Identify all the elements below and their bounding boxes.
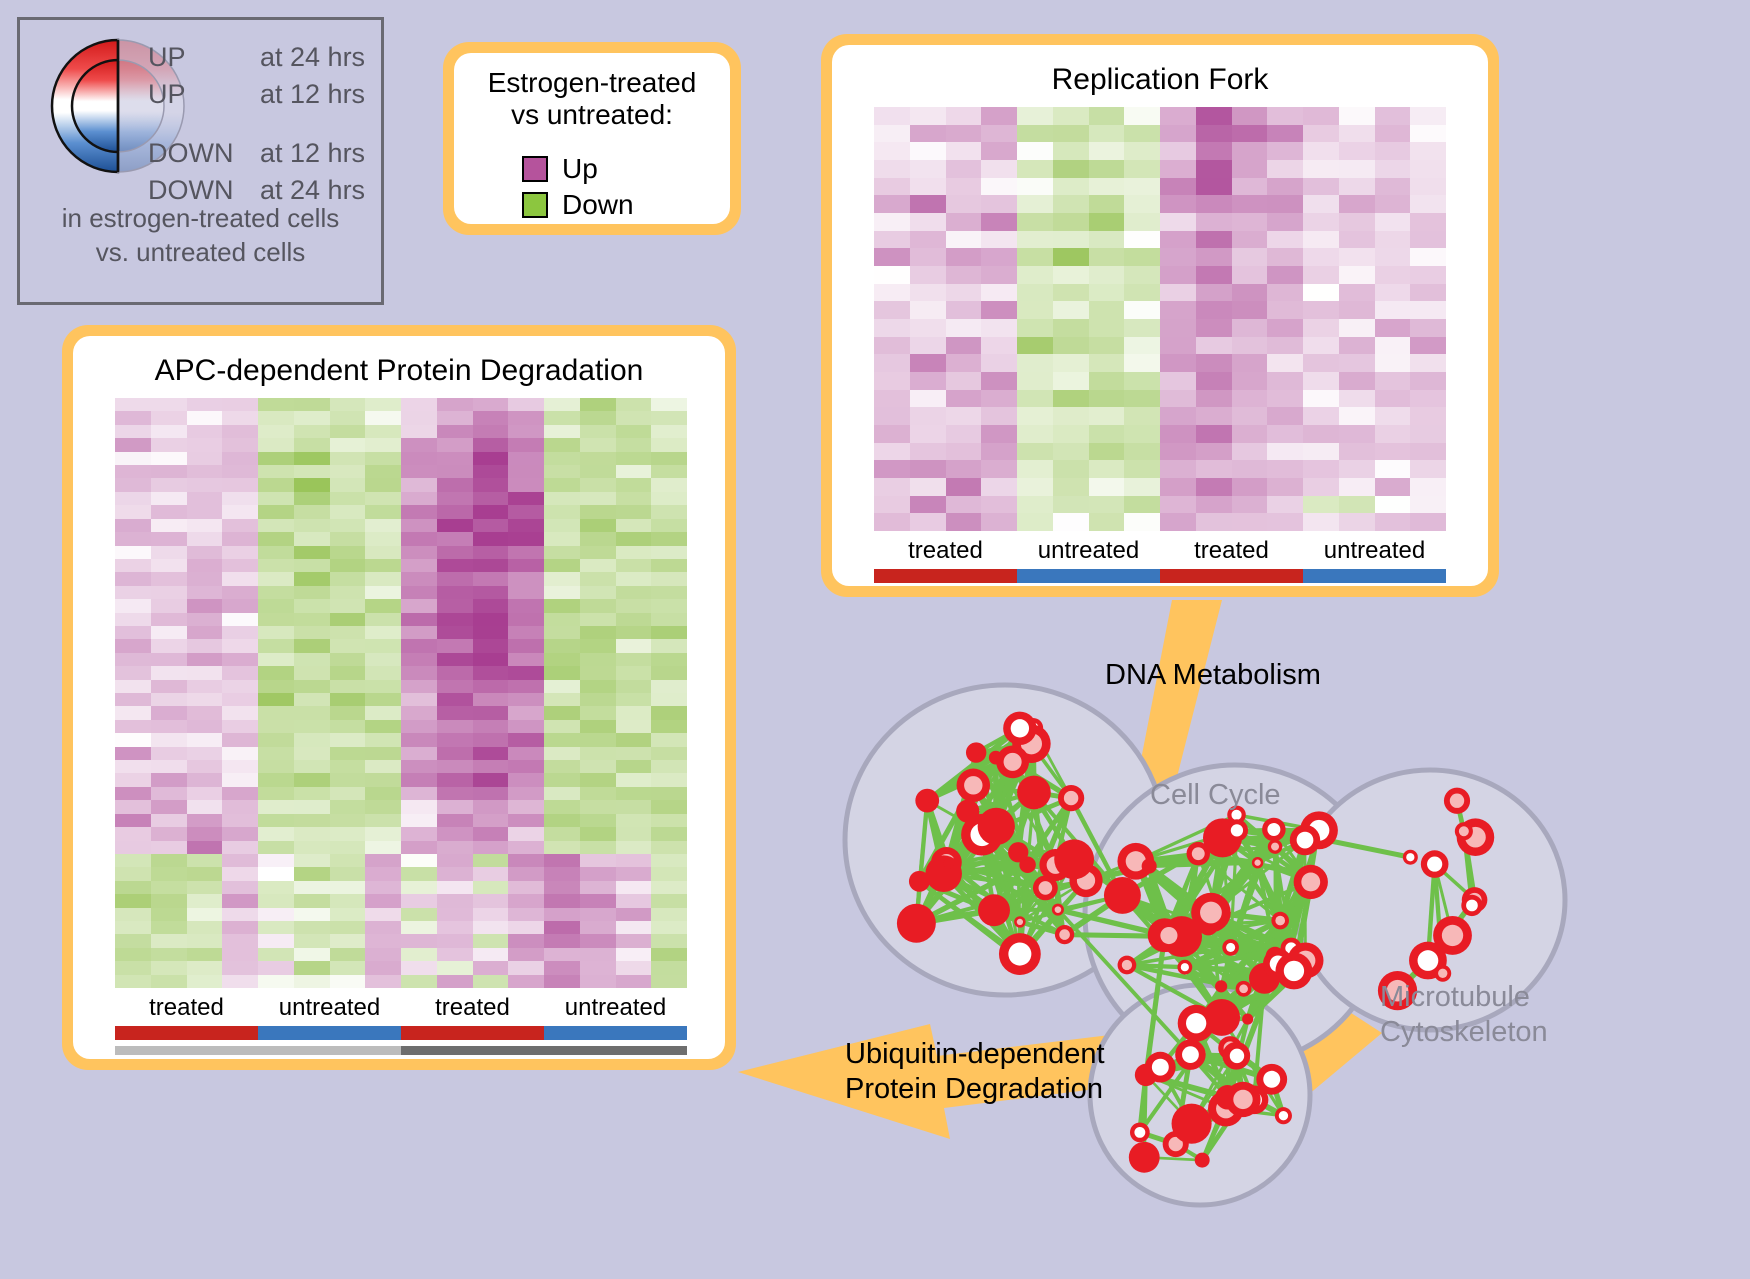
- heatmap-cell: [330, 613, 366, 626]
- network-node[interactable]: [1271, 912, 1289, 930]
- heatmap-cell: [544, 921, 580, 934]
- network-node[interactable]: [956, 800, 979, 823]
- legend-label-down: Down: [562, 189, 634, 221]
- heatmap-cell: [187, 787, 223, 800]
- network-node[interactable]: [1172, 1104, 1212, 1144]
- heatmap-cell: [544, 961, 580, 974]
- heatmap-cell: [1232, 284, 1268, 302]
- heatmap-cell: [115, 653, 151, 666]
- node-inner: [1239, 984, 1248, 993]
- network-node[interactable]: [1268, 839, 1282, 853]
- network-node[interactable]: [1014, 916, 1025, 927]
- node-inner: [1039, 881, 1053, 895]
- heatmap-cell: [294, 894, 330, 907]
- network-node[interactable]: [1215, 980, 1227, 992]
- heatmap-cell: [294, 921, 330, 934]
- heatmap-cell: [874, 266, 910, 284]
- network-node[interactable]: [996, 745, 1029, 778]
- heatmap-cell: [616, 733, 652, 746]
- network-node[interactable]: [1118, 956, 1137, 975]
- network-node[interactable]: [1195, 1153, 1210, 1168]
- network-node[interactable]: [1236, 981, 1252, 997]
- node-outer: [1008, 842, 1028, 862]
- heatmap-cell: [330, 492, 366, 505]
- heatmap-cell: [187, 854, 223, 867]
- heatmap-cell: [946, 266, 982, 284]
- heatmap-cell: [365, 519, 401, 532]
- heatmap-cell: [1375, 425, 1411, 443]
- network-node[interactable]: [1129, 1142, 1160, 1173]
- heatmap-cell: [651, 760, 687, 773]
- heatmap-cell: [910, 284, 946, 302]
- heatmap-cell: [437, 398, 473, 411]
- network-node[interactable]: [1187, 842, 1210, 865]
- heatmap-cell: [1232, 142, 1268, 160]
- network-node[interactable]: [999, 933, 1041, 975]
- heatmap-cell: [473, 653, 509, 666]
- heatmap-cell: [544, 492, 580, 505]
- heatmap-cell: [437, 425, 473, 438]
- heatmap-cell: [437, 934, 473, 947]
- replication-fork-title: Replication Fork: [832, 63, 1488, 97]
- heatmap-cell: [473, 773, 509, 786]
- node-inner: [1254, 860, 1260, 866]
- heatmap-cell: [1303, 390, 1339, 408]
- heatmap-cell: [1124, 478, 1160, 496]
- heatmap-cell: [258, 438, 294, 451]
- heatmap-cell: [330, 680, 366, 693]
- heatmap-cell: [437, 733, 473, 746]
- replication-fork-panel: Replication Fork treateduntreatedtreated…: [821, 34, 1499, 597]
- heatmap-cell: [874, 513, 910, 531]
- network-node[interactable]: [1461, 895, 1482, 916]
- heatmap-cell: [294, 747, 330, 760]
- heatmap-cell: [544, 438, 580, 451]
- heatmap-cell: [437, 921, 473, 934]
- network-node[interactable]: [1226, 819, 1248, 841]
- heatmap-cell: [1053, 231, 1089, 249]
- heatmap-cell: [401, 492, 437, 505]
- heatmap-cell: [401, 425, 437, 438]
- network-node[interactable]: [1294, 865, 1328, 899]
- heatmap-cell: [401, 586, 437, 599]
- heatmap-cell: [330, 505, 366, 518]
- heatmap-cell: [544, 894, 580, 907]
- network-node[interactable]: [1130, 1122, 1150, 1142]
- heatmap-cell: [187, 599, 223, 612]
- heatmap-cell: [1303, 195, 1339, 213]
- heatmap-cell: [580, 666, 616, 679]
- heatmap-cell: [115, 908, 151, 921]
- heatmap-cell: [1089, 195, 1125, 213]
- heatmap-cell: [330, 827, 366, 840]
- heatmap-cell: [544, 800, 580, 813]
- network-node[interactable]: [1054, 839, 1094, 879]
- node-inner: [1134, 1127, 1145, 1138]
- heatmap-cell: [151, 961, 187, 974]
- heatmap-cell: [330, 666, 366, 679]
- network-node[interactable]: [1052, 904, 1064, 916]
- heatmap-cell: [473, 532, 509, 545]
- heatmap-cell: [222, 908, 258, 921]
- key-time: at 24 hrs: [260, 177, 365, 204]
- heatmap-cell: [401, 452, 437, 465]
- network-node[interactable]: [966, 742, 986, 762]
- heatmap-cell: [651, 519, 687, 532]
- heatmap-cell: [616, 693, 652, 706]
- heatmap-cell: [981, 248, 1017, 266]
- heatmap-cell: [616, 787, 652, 800]
- heatmap-cell: [1053, 125, 1089, 143]
- heatmap-cell: [294, 465, 330, 478]
- apc-degradation-time-bars: [115, 1046, 687, 1055]
- heatmap-cell: [580, 398, 616, 411]
- heatmap-cell: [1089, 407, 1125, 425]
- heatmap-cell: [1232, 266, 1268, 284]
- network-node[interactable]: [978, 894, 1010, 926]
- heatmap-cell: [910, 496, 946, 514]
- heatmap-cell: [365, 492, 401, 505]
- node-inner: [1284, 961, 1304, 981]
- heatmap-cell: [544, 505, 580, 518]
- heatmap-cell: [1089, 178, 1125, 196]
- heatmap-cell: [115, 411, 151, 424]
- heatmap-cell: [910, 425, 946, 443]
- heatmap-cell: [508, 961, 544, 974]
- heatmap-cell: [115, 425, 151, 438]
- heatmap-cell: [187, 934, 223, 947]
- heatmap-cell: [222, 505, 258, 518]
- node-outer: [1054, 839, 1094, 879]
- heatmap-cell: [1017, 125, 1053, 143]
- network-node[interactable]: [1003, 712, 1036, 745]
- key-row-2: DOWN at 12 hrs: [148, 140, 365, 177]
- replication-fork-group-bars: [874, 569, 1446, 583]
- key-time: at 24 hrs: [260, 44, 365, 71]
- network-node[interactable]: [1058, 785, 1084, 811]
- heatmap-cell: [151, 586, 187, 599]
- heatmap-cell: [365, 452, 401, 465]
- heatmap-cell: [330, 559, 366, 572]
- heatmap-cell: [187, 586, 223, 599]
- heatmap-cell: [544, 425, 580, 438]
- heatmap-cell: [508, 760, 544, 773]
- heatmap-cell: [1232, 160, 1268, 178]
- network-node[interactable]: [1008, 842, 1028, 862]
- heatmap-cell: [508, 800, 544, 813]
- heatmap-cell: [1124, 248, 1160, 266]
- heatmap-cell: [151, 706, 187, 719]
- heatmap-cell: [1196, 319, 1232, 337]
- heatmap-cell: [222, 881, 258, 894]
- network-node[interactable]: [1191, 893, 1231, 933]
- heatmap-cell: [910, 160, 946, 178]
- heatmap-cell: [616, 706, 652, 719]
- network-node[interactable]: [1403, 850, 1418, 865]
- heatmap-cell: [473, 760, 509, 773]
- heatmap-cell: [365, 720, 401, 733]
- heatmap-cell: [437, 894, 473, 907]
- heatmap-cell: [1089, 301, 1125, 319]
- network-node[interactable]: [1455, 822, 1473, 840]
- heatmap-cell: [1267, 125, 1303, 143]
- heatmap-cell: [1124, 213, 1160, 231]
- heatmap-cell: [874, 443, 910, 461]
- heatmap-cell: [294, 586, 330, 599]
- heatmap-cell: [437, 720, 473, 733]
- network-node[interactable]: [1252, 857, 1263, 868]
- heatmap-cell: [981, 107, 1017, 125]
- heatmap-cell: [187, 680, 223, 693]
- network-node[interactable]: [957, 769, 991, 803]
- heatmap-cell: [508, 720, 544, 733]
- heatmap-cell: [874, 125, 910, 143]
- heatmap-cell: [1410, 407, 1446, 425]
- heatmap-cell: [651, 961, 687, 974]
- heatmap-cell: [258, 706, 294, 719]
- heatmap-cell: [115, 881, 151, 894]
- network-node[interactable]: [1433, 916, 1472, 955]
- heatmap-cell: [1375, 407, 1411, 425]
- heatmap-cell: [401, 975, 437, 988]
- heatmap-cell: [616, 908, 652, 921]
- network-node[interactable]: [1290, 825, 1320, 855]
- network-node[interactable]: [1175, 1039, 1206, 1070]
- group-label: untreated: [544, 994, 687, 1022]
- node-inner: [1152, 1059, 1169, 1076]
- network-node[interactable]: [915, 789, 939, 813]
- heatmap-cell: [1303, 284, 1339, 302]
- heatmap-cell: [651, 666, 687, 679]
- heatmap-cell: [1267, 301, 1303, 319]
- network-node[interactable]: [1142, 859, 1157, 874]
- heatmap-cell: [580, 505, 616, 518]
- heatmap-cell: [401, 411, 437, 424]
- heatmap-cell: [544, 546, 580, 559]
- node-inner: [1466, 900, 1478, 912]
- heatmap-cell: [651, 867, 687, 880]
- heatmap-cell: [508, 478, 544, 491]
- heatmap-cell: [616, 854, 652, 867]
- heatmap-cell: [1339, 231, 1375, 249]
- heatmap-cell: [365, 908, 401, 921]
- heatmap-cell: [1053, 337, 1089, 355]
- network-node[interactable]: [897, 904, 936, 943]
- heatmap-cell: [1017, 195, 1053, 213]
- heatmap-cell: [508, 572, 544, 585]
- heatmap-cell: [473, 505, 509, 518]
- network-node[interactable]: [1017, 776, 1051, 810]
- heatmap-cell: [580, 881, 616, 894]
- node-inner: [1418, 950, 1439, 971]
- network-node[interactable]: [1104, 877, 1141, 914]
- heatmap-cell: [651, 854, 687, 867]
- heatmap-cell: [1089, 160, 1125, 178]
- node-inner: [1226, 943, 1235, 952]
- network-node[interactable]: [1153, 920, 1184, 951]
- network-node[interactable]: [1275, 952, 1312, 989]
- network-node[interactable]: [1224, 1043, 1250, 1069]
- heatmap-cell: [437, 639, 473, 652]
- heatmap-cell: [616, 934, 652, 947]
- heatmap-cell: [1410, 354, 1446, 372]
- heatmap-cell: [1124, 496, 1160, 514]
- network-node[interactable]: [1145, 1052, 1176, 1083]
- heatmap-cell: [544, 613, 580, 626]
- heatmap-cell: [222, 814, 258, 827]
- heatmap-cell: [115, 492, 151, 505]
- network-node[interactable]: [1262, 818, 1286, 842]
- heatmap-cell: [580, 975, 616, 988]
- heatmap-cell: [330, 814, 366, 827]
- heatmap-cell: [1267, 213, 1303, 231]
- heatmap-cell: [187, 478, 223, 491]
- heatmap-cell: [222, 854, 258, 867]
- heatmap-cell: [1196, 513, 1232, 531]
- heatmap-cell: [981, 513, 1017, 531]
- heatmap-cell: [1339, 425, 1375, 443]
- heatmap-cell: [508, 814, 544, 827]
- heatmap-cell: [1267, 160, 1303, 178]
- heatmap-cell: [1267, 248, 1303, 266]
- heatmap-cell: [401, 720, 437, 733]
- heatmap-cell: [473, 720, 509, 733]
- heatmap-cell: [401, 398, 437, 411]
- network-node[interactable]: [925, 855, 962, 892]
- heatmap-cell: [222, 478, 258, 491]
- heatmap-cell: [651, 841, 687, 854]
- cluster-label-ubiquitin: Ubiquitin-dependent Protein Degradation: [845, 1037, 1105, 1107]
- network-node[interactable]: [1444, 788, 1470, 814]
- heatmap-cell: [401, 814, 437, 827]
- heatmap-cell: [1124, 425, 1160, 443]
- heatmap-cell: [1339, 195, 1375, 213]
- heatmap-cell: [1232, 125, 1268, 143]
- network-node[interactable]: [1055, 925, 1074, 944]
- heatmap-cell: [616, 881, 652, 894]
- heatmap-cell: [1089, 337, 1125, 355]
- heatmap-cell: [473, 519, 509, 532]
- heatmap-cell: [437, 800, 473, 813]
- heatmap-cell: [222, 867, 258, 880]
- heatmap-cell: [258, 908, 294, 921]
- heatmap-cell: [1410, 425, 1446, 443]
- heatmap-cell: [222, 693, 258, 706]
- heatmap-cell: [437, 881, 473, 894]
- heatmap-cell: [187, 505, 223, 518]
- heatmap-cell: [874, 478, 910, 496]
- heatmap-cell: [1053, 107, 1089, 125]
- network-node[interactable]: [1177, 960, 1192, 975]
- group-color-bar: [1160, 569, 1303, 583]
- heatmap-cell: [910, 354, 946, 372]
- network-node[interactable]: [978, 808, 1015, 845]
- network-node[interactable]: [1275, 1107, 1292, 1124]
- heatmap-cell: [437, 586, 473, 599]
- heatmap-cell: [1089, 354, 1125, 372]
- heatmap-cell: [946, 496, 982, 514]
- heatmap-cell: [1124, 513, 1160, 531]
- heatmap-cell: [651, 626, 687, 639]
- heatmap-cell: [330, 760, 366, 773]
- heatmap-cell: [651, 505, 687, 518]
- heatmap-cell: [365, 613, 401, 626]
- heatmap-cell: [580, 586, 616, 599]
- heatmap-cell: [874, 178, 910, 196]
- heatmap-cell: [1303, 266, 1339, 284]
- heatmap-cell: [508, 452, 544, 465]
- heatmap-cell: [365, 425, 401, 438]
- heatmap-cell: [115, 975, 151, 988]
- heatmap-cell: [258, 814, 294, 827]
- heatmap-cell: [258, 653, 294, 666]
- network-node[interactable]: [1421, 850, 1449, 878]
- heatmap-cell: [330, 532, 366, 545]
- heatmap-cell: [294, 492, 330, 505]
- heatmap-cell: [1089, 284, 1125, 302]
- cluster-label-dna-metabolism: DNA Metabolism: [1105, 658, 1321, 693]
- heatmap-cell: [910, 478, 946, 496]
- heatmap-cell: [651, 693, 687, 706]
- heatmap-cell: [1160, 231, 1196, 249]
- heatmap-cell: [473, 894, 509, 907]
- network-node[interactable]: [1222, 939, 1239, 956]
- heatmap-cell: [580, 908, 616, 921]
- heatmap-cell: [981, 460, 1017, 478]
- heatmap-cell: [1267, 425, 1303, 443]
- heatmap-cell: [473, 854, 509, 867]
- heatmap-cell: [1160, 160, 1196, 178]
- heatmap-cell: [508, 492, 544, 505]
- heatmap-cell: [401, 787, 437, 800]
- network-node[interactable]: [1256, 1064, 1287, 1095]
- figure-stage: UP at 24 hrs UP at 12 hrs DOWN at 12 hrs…: [0, 0, 1750, 1279]
- heatmap-cell: [1196, 425, 1232, 443]
- heatmap-cell: [580, 680, 616, 693]
- heatmap-cell: [151, 841, 187, 854]
- heatmap-cell: [222, 438, 258, 451]
- heatmap-cell: [365, 626, 401, 639]
- heatmap-cell: [437, 787, 473, 800]
- heatmap-cell: [1017, 301, 1053, 319]
- heatmap-cell: [330, 773, 366, 786]
- heatmap-cell: [330, 478, 366, 491]
- heatmap-cell: [473, 800, 509, 813]
- heatmap-cell: [1160, 266, 1196, 284]
- heatmap-cell: [1375, 178, 1411, 196]
- network-node[interactable]: [1225, 1082, 1260, 1117]
- heatmap-cell: [1303, 160, 1339, 178]
- heatmap-cell: [981, 284, 1017, 302]
- network-node[interactable]: [943, 858, 954, 869]
- heatmap-cell: [508, 586, 544, 599]
- heatmap-cell: [910, 372, 946, 390]
- heatmap-cell: [365, 894, 401, 907]
- heatmap-cell: [1339, 301, 1375, 319]
- heatmap-cell: [187, 532, 223, 545]
- network-node[interactable]: [1178, 1005, 1215, 1042]
- network-node[interactable]: [1033, 875, 1058, 900]
- group-color-bar: [1017, 569, 1160, 583]
- heatmap-cell: [1089, 496, 1125, 514]
- heatmap-cell: [616, 505, 652, 518]
- heatmap-cell: [1124, 301, 1160, 319]
- heatmap-cell: [151, 546, 187, 559]
- network-node[interactable]: [1242, 1013, 1253, 1024]
- heatmap-cell: [401, 532, 437, 545]
- heatmap-cell: [222, 934, 258, 947]
- heatmap-cell: [365, 975, 401, 988]
